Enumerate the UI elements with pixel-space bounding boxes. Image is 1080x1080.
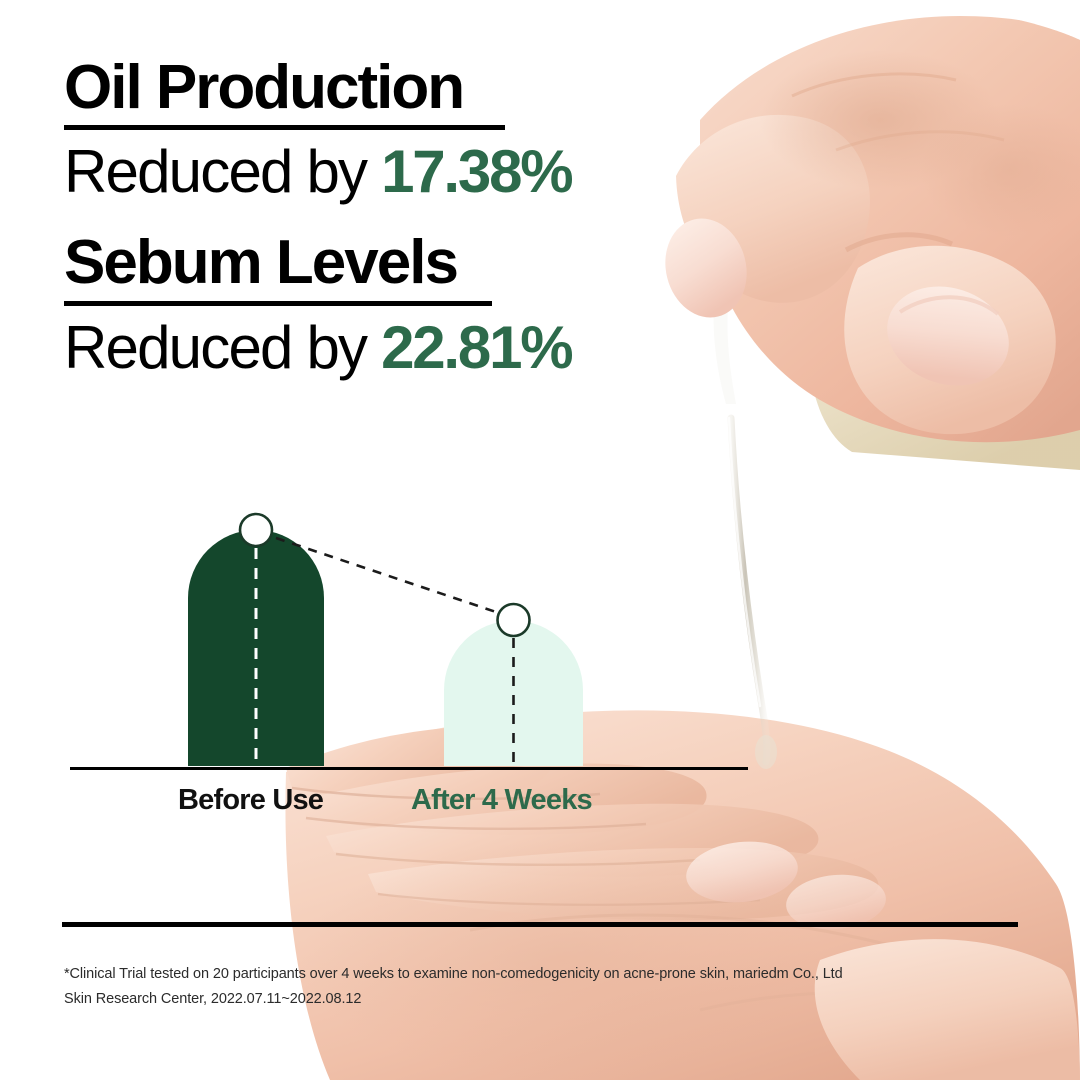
stat-value-sebum: 22.81% xyxy=(381,314,571,381)
footnote-line-1: *Clinical Trial tested on 20 participant… xyxy=(64,962,964,987)
stat-title-sebum-levels: Sebum Levels xyxy=(64,231,571,294)
stat-prefix-sebum: Reduced by xyxy=(64,314,381,381)
stat-subline-sebum: Reduced by 22.81% xyxy=(64,314,571,381)
stat-prefix-oil: Reduced by xyxy=(64,138,381,205)
headline-block: Oil Production Reduced by 17.38% Sebum L… xyxy=(64,56,571,381)
infographic-canvas: Oil Production Reduced by 17.38% Sebum L… xyxy=(0,0,1080,1080)
bar-after-4-weeks[interactable] xyxy=(444,621,583,767)
open-palm-hand xyxy=(285,710,1080,1080)
dispensing-hand xyxy=(655,16,1080,442)
footer-divider xyxy=(62,922,1018,927)
stat-value-oil: 17.38% xyxy=(381,138,571,205)
stat-title-underline-oil xyxy=(64,125,505,130)
footnote-line-2: Skin Research Center, 2022.07.11~2022.08… xyxy=(64,987,964,1012)
stat-oil-production: Oil Production Reduced by 17.38% xyxy=(64,56,571,205)
pump-bottle xyxy=(688,220,1080,470)
axis-label-after-4-weeks: After 4 Weeks xyxy=(411,784,592,817)
clinical-trial-footnote: *Clinical Trial tested on 20 participant… xyxy=(64,962,964,1012)
stat-title-underline-sebum xyxy=(64,301,492,306)
stat-sebum-levels: Sebum Levels Reduced by 22.81% xyxy=(64,231,571,380)
axis-label-before-use: Before Use xyxy=(178,784,323,817)
stat-subline-oil: Reduced by 17.38% xyxy=(64,138,571,205)
stat-title-oil-production: Oil Production xyxy=(64,56,571,119)
oil-stream xyxy=(729,418,777,769)
bar-before-use[interactable] xyxy=(188,530,324,766)
